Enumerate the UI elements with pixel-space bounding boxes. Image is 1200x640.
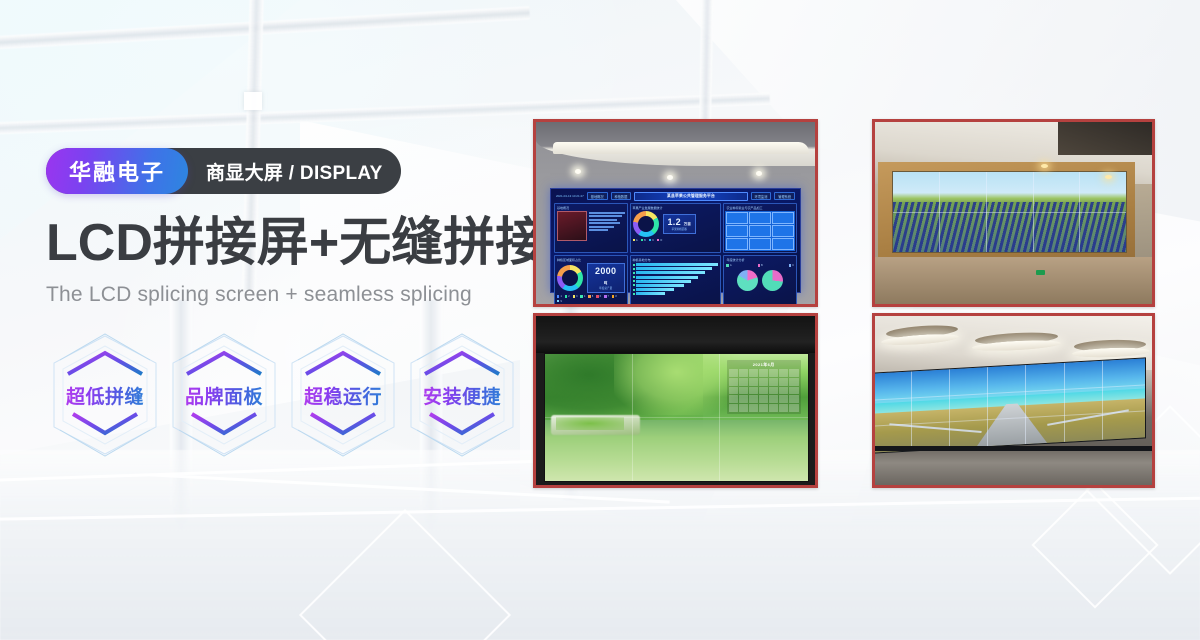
legend-item: 2 [565, 295, 570, 298]
legend-item: B [758, 264, 763, 267]
exit-sign-icon [1036, 270, 1045, 275]
ceiling-spotlight [667, 175, 673, 180]
lower-wall [875, 257, 1152, 304]
dashboard-tab: 环境监测 [751, 192, 772, 200]
page-subtitle: The LCD splicing screen + seamless splic… [46, 283, 526, 307]
card-title: 种植基地分布 [633, 258, 719, 262]
dashboard-card-flow: 农业种养殖业与农产品加工 [723, 203, 797, 254]
screen-base-frame [875, 446, 1152, 451]
page-title: LCD拼接屏+无缝拼接 [46, 216, 526, 271]
legend-item: 6 [596, 295, 601, 298]
dashboard-card-grid: 基地概况 苹果产业发展数据统计 [554, 203, 797, 306]
dashboard-card-annual-analysis: 年度统计分析 A B C [723, 255, 797, 306]
legend-item: 3 [573, 295, 578, 298]
legend-item: 4 [580, 295, 585, 298]
card-thumbnail [557, 211, 587, 241]
feature-badge-3: 安装便捷 [403, 330, 521, 460]
pie-chart-pair [726, 270, 794, 291]
bar-row [633, 276, 719, 279]
calendar-title: 2021年6月 [729, 362, 799, 368]
bar-row [633, 271, 719, 274]
feature-badge-label: 超稳运行 [304, 382, 382, 409]
pie-chart [737, 270, 758, 291]
bar-chart [633, 263, 719, 295]
dashboard-timestamp: 2021-04-13 10:21:27 [556, 194, 584, 198]
legend-item: C [789, 264, 794, 267]
badge-row: 商显大屏 / DISPLAY 华融电子 [46, 148, 526, 194]
legend-item: A [726, 264, 731, 267]
dashboard-card-overview: 基地概况 [554, 203, 628, 254]
mullion-joint-1 [244, 92, 262, 110]
brand-badge-label: 华融电子 [69, 155, 165, 187]
product-photo-dashboard-video-wall: 2021-04-13 10:21:27 基地概况 种植数据 某县苹果公共管理服务… [533, 119, 818, 307]
feature-badge-0: 超低拼缝 [46, 330, 164, 460]
donut-chart [633, 211, 659, 237]
dashboard-tab: 种植数据 [611, 192, 632, 200]
video-wall-screen: 2021-04-13 10:21:27 基地概况 种植数据 某县苹果公共管理服务… [550, 188, 801, 294]
dashboard-tab: 管理系统 [774, 192, 795, 200]
kpi-label: 苹果种植面积 [668, 227, 692, 231]
kpi-value: 1.2 万亩 [668, 217, 692, 227]
hedge-content [556, 417, 624, 430]
pie-chart [762, 270, 783, 291]
kpi-value: 2000 吨 [592, 266, 620, 286]
legend-item: C [649, 239, 654, 242]
feature-badge-label: 品牌面板 [185, 382, 263, 409]
dashboard-card-area-ratio: 种植区域面积占比 2000 吨 年度总产量 [554, 255, 628, 306]
bar-row [633, 267, 719, 270]
legend-item: 9 [557, 300, 562, 303]
dashboard-tab: 基地概况 [587, 192, 608, 200]
donut-chart [557, 265, 583, 291]
legend-item: D [657, 239, 662, 242]
video-wall-screen: 2021年6月 [544, 353, 809, 481]
feature-badge-label: 安装便捷 [423, 382, 501, 409]
wall-sconce [1041, 164, 1048, 168]
chart-legend: A B C D [633, 239, 719, 242]
legend-item: 7 [604, 295, 609, 298]
kpi-label: 年度总产量 [592, 286, 620, 290]
dashboard-header: 2021-04-13 10:21:27 基地概况 种植数据 某县苹果公共管理服务… [554, 192, 797, 201]
video-wall-screen [892, 171, 1127, 253]
screen-top-bezel [536, 316, 815, 353]
headline-block: 商显大屏 / DISPLAY 华融电子 LCD拼接屏+无缝拼接 The LCD … [46, 148, 526, 307]
feature-badge-2: 超稳运行 [284, 330, 402, 460]
card-title: 苹果产业发展数据统计 [633, 206, 719, 210]
feature-badge-row: 超低拼缝 品牌面板 超稳运行 [46, 330, 521, 460]
card-title: 基地概况 [557, 206, 625, 210]
chart-legend: A B C [726, 264, 794, 267]
bar-row [633, 263, 719, 266]
bar-row [633, 280, 719, 283]
product-photo-willow-pond-video-wall: 2021年6月 [533, 313, 818, 488]
chart-legend: 1 2 3 4 5 6 7 8 9 [557, 295, 625, 303]
flow-diagram [725, 211, 795, 252]
card-text-lines [589, 211, 625, 241]
legend-item: B [641, 239, 646, 242]
calendar-overlay: 2021年6月 [727, 360, 801, 413]
category-badge-label: 商显大屏 / DISPLAY [206, 158, 383, 185]
bar-row [633, 288, 719, 291]
video-wall-screen [872, 357, 1146, 453]
legend-item: A [633, 239, 638, 242]
calendar-grid [729, 369, 799, 411]
legend-item: 8 [612, 295, 617, 298]
card-title: 农业种养殖业与农产品加工 [726, 206, 794, 210]
feature-badge-1: 品牌面板 [165, 330, 283, 460]
product-photo-solar-farm-video-wall [872, 119, 1155, 307]
product-photo-beach-boardwalk-video-wall [872, 313, 1155, 488]
kpi-block: 1.2 万亩 苹果种植面积 [663, 214, 697, 234]
solar-farm-content [893, 202, 1126, 252]
bar-row [633, 284, 719, 287]
brand-badge: 华融电子 [46, 148, 188, 194]
feature-badge-label: 超低拼缝 [66, 382, 144, 409]
legend-item: 5 [588, 295, 593, 298]
card-title: 年度统计分析 [726, 258, 794, 262]
photo-ceiling-cove [553, 142, 810, 154]
dashboard-card-base-distribution: 种植基地分布 [630, 255, 722, 306]
card-title: 种植区域面积占比 [557, 258, 625, 262]
photo-floor [875, 448, 1152, 485]
bar-row [633, 292, 719, 295]
dashboard-card-statistics: 苹果产业发展数据统计 1.2 万亩 苹果种植面积 [630, 203, 722, 254]
dashboard-title: 某县苹果公共管理服务平台 [634, 192, 747, 201]
promo-banner: 商显大屏 / DISPLAY 华融电子 LCD拼接屏+无缝拼接 The LCD … [0, 0, 1200, 640]
photo-ceiling-recess [1058, 122, 1152, 155]
kpi-block: 2000 吨 年度总产量 [587, 263, 625, 293]
legend-item: 1 [557, 295, 562, 298]
wall-sconce [1105, 175, 1112, 179]
